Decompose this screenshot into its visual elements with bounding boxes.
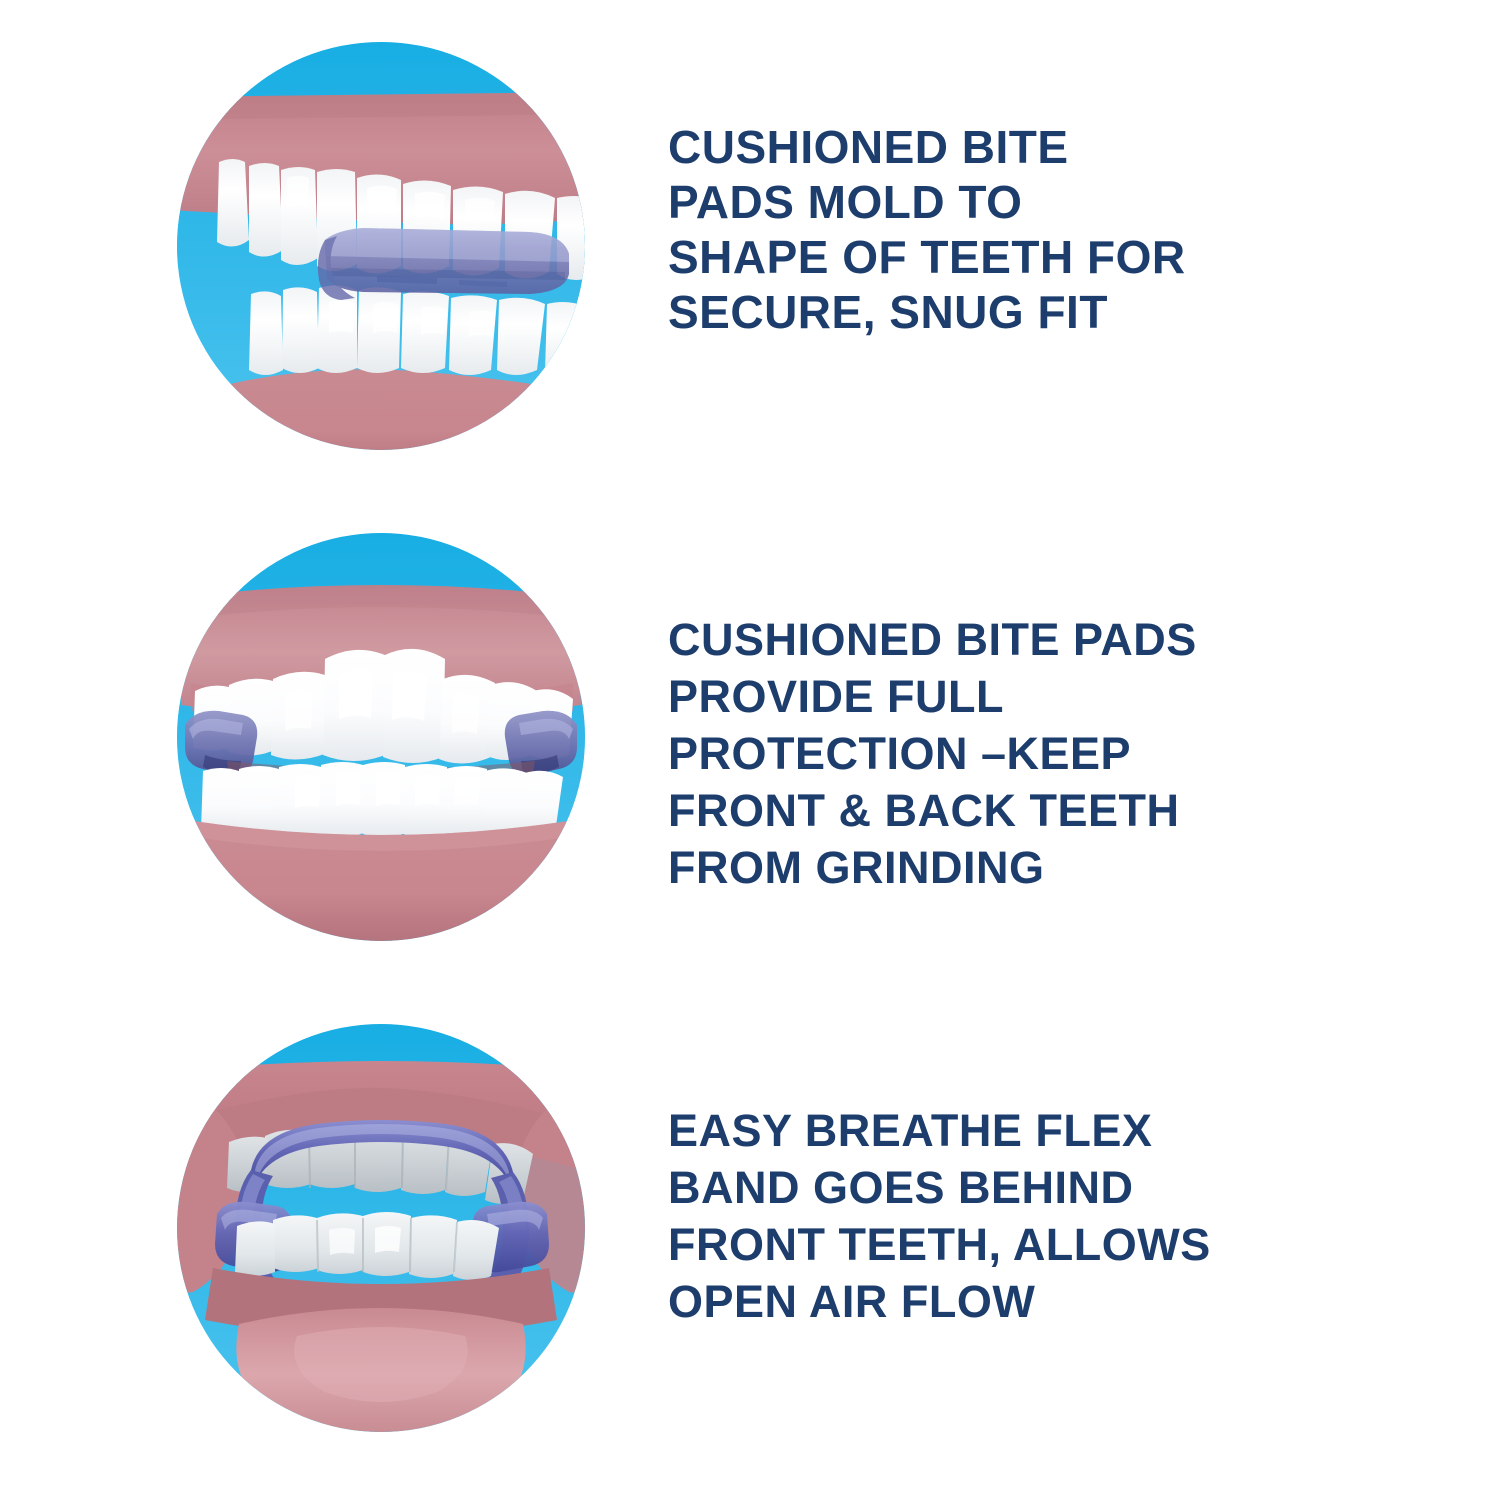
feature-2-line-5: FROM GRINDING	[668, 839, 1368, 896]
feature-text-1: CUSHIONED BITE PADS MOLD TO SHAPE OF TEE…	[668, 120, 1368, 340]
teeth-side-view-svg	[177, 42, 585, 450]
illustration-circle-3	[177, 1024, 585, 1432]
feature-2-line-4: FRONT & BACK TEETH	[668, 782, 1368, 839]
illustration-teeth-side-view-with-mouthguard	[177, 42, 585, 450]
feature-3-line-4: OPEN AIR FLOW	[668, 1273, 1368, 1330]
feature-1-line-1: CUSHIONED BITE	[668, 120, 1368, 175]
product-feature-infographic: CUSHIONED BITE PADS MOLD TO SHAPE OF TEE…	[0, 0, 1500, 1500]
feature-text-3: EASY BREATHE FLEX BAND GOES BEHIND FRONT…	[668, 1102, 1368, 1330]
feature-row-1: CUSHIONED BITE PADS MOLD TO SHAPE OF TEE…	[0, 0, 1500, 490]
feature-row-2: CUSHIONED BITE PADS PROVIDE FULL PROTECT…	[0, 491, 1500, 981]
illustration-circle-1	[177, 42, 585, 450]
feature-text-2: CUSHIONED BITE PADS PROVIDE FULL PROTECT…	[668, 611, 1368, 896]
illustration-circle-2	[177, 533, 585, 941]
feature-3-line-1: EASY BREATHE FLEX	[668, 1102, 1368, 1159]
feature-3-line-2: BAND GOES BEHIND	[668, 1159, 1368, 1216]
feature-2-line-3: PROTECTION –KEEP	[668, 725, 1368, 782]
feature-1-line-3: SHAPE OF TEETH FOR	[668, 230, 1368, 285]
illustration-teeth-front-view-with-bite-pads	[177, 533, 585, 941]
feature-1-line-4: SECURE, SNUG FIT	[668, 285, 1368, 340]
feature-3-line-3: FRONT TEETH, ALLOWS	[668, 1216, 1368, 1273]
illustration-teeth-interior-view-with-flex-band	[177, 1024, 585, 1432]
teeth-interior-view-svg	[177, 1024, 585, 1432]
feature-2-line-1: CUSHIONED BITE PADS	[668, 611, 1368, 668]
feature-2-line-2: PROVIDE FULL	[668, 668, 1368, 725]
feature-1-line-2: PADS MOLD TO	[668, 175, 1368, 230]
teeth-front-view-svg	[177, 533, 585, 941]
feature-row-3: EASY BREATHE FLEX BAND GOES BEHIND FRONT…	[0, 982, 1500, 1472]
